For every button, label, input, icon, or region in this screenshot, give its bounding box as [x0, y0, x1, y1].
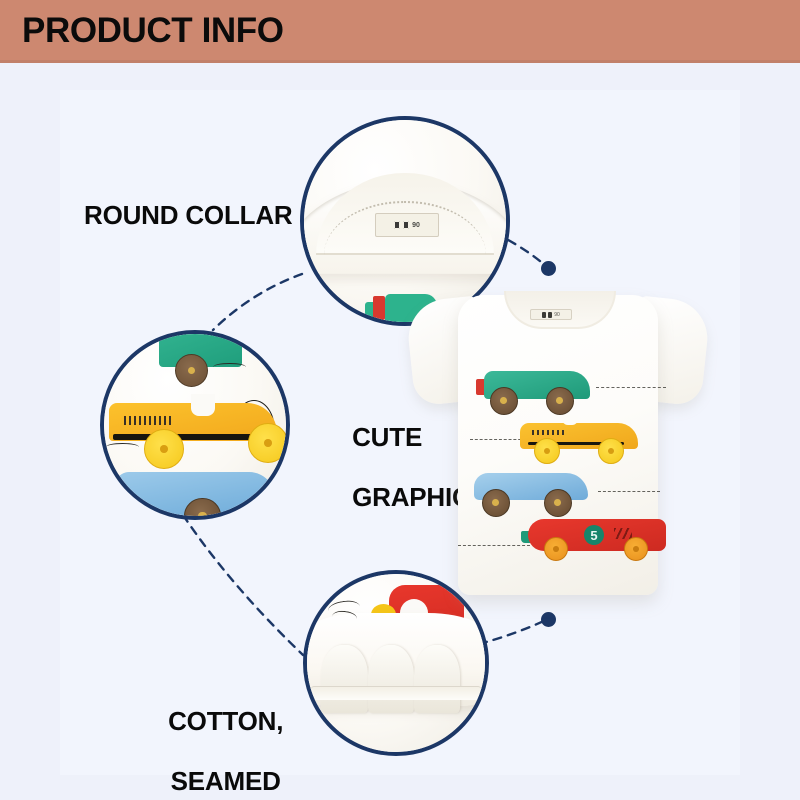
care-glyph-icon	[394, 221, 400, 229]
cotton-hem-fold	[321, 645, 367, 713]
feature-label-round-collar: ROUND COLLAR	[84, 200, 292, 230]
print-green-car	[484, 371, 590, 399]
cotton-hem-fold	[414, 645, 460, 713]
infographic-page: PRODUCT INFO ROUND COLLAR 90 CUTE GRAPHI…	[0, 0, 800, 800]
feature-label-cotton-seamed: COTTON, SEAMED	[140, 676, 283, 800]
graphics-yellow-car-wheel-rear	[248, 423, 288, 463]
print-red-car-vents	[614, 528, 632, 539]
feature-circle-cute-graphics	[100, 330, 290, 520]
graphics-yellow-car-wheel-front	[144, 429, 184, 469]
care-label-size: 90	[412, 222, 420, 229]
neck-tag-glyph-icon	[542, 312, 546, 318]
connector-dot-bottom	[541, 612, 556, 627]
print-track-line	[596, 387, 666, 396]
print-yellow-car-cockpit	[562, 415, 578, 425]
shirt-neck-tag: 90	[530, 309, 572, 320]
feature-label-line2: SEAMED	[171, 766, 281, 796]
product-photo: 90 5	[412, 283, 704, 599]
print-track-line	[458, 545, 530, 554]
print-red-car-number: 5	[584, 525, 604, 545]
print-yellow-car-grille	[532, 430, 566, 435]
graphics-yellow-car-bar	[113, 434, 270, 440]
print-green-car-wheel-rear	[546, 387, 574, 415]
print-yellow-car-wheel-front	[534, 438, 560, 464]
print-track-line	[598, 491, 660, 500]
print-green-car-wheel-front	[490, 387, 518, 415]
print-red-car-wheel-front	[544, 537, 568, 561]
print-blue-car	[474, 473, 588, 500]
header-bar: PRODUCT INFO	[0, 0, 800, 63]
print-yellow-car-wheel-rear	[598, 438, 624, 464]
graphics-yellow-car-cockpit	[191, 394, 215, 416]
print-track-line	[470, 439, 526, 448]
page-title: PRODUCT INFO	[22, 9, 284, 53]
print-blue-car-wheel-rear	[544, 489, 572, 517]
neck-tag-glyph-icon	[548, 312, 552, 318]
collar-print-red-part	[373, 296, 385, 320]
print-yellow-car	[520, 423, 638, 449]
cotton-hem-fold	[368, 645, 414, 713]
care-glyph-icon	[403, 221, 409, 229]
graphics-yellow-car-grille	[124, 416, 171, 425]
print-red-car: 5	[528, 519, 666, 551]
neck-tag-size: 90	[554, 312, 560, 318]
print-red-car-wheel-rear	[624, 537, 648, 561]
connector-dot-top	[541, 261, 556, 276]
feature-label-line1: COTTON,	[168, 706, 283, 736]
cotton-seam-edge	[311, 686, 482, 699]
print-blue-car-wheel-front	[482, 489, 510, 517]
graphics-green-car-wheel	[175, 354, 208, 387]
care-label: 90	[375, 213, 440, 237]
